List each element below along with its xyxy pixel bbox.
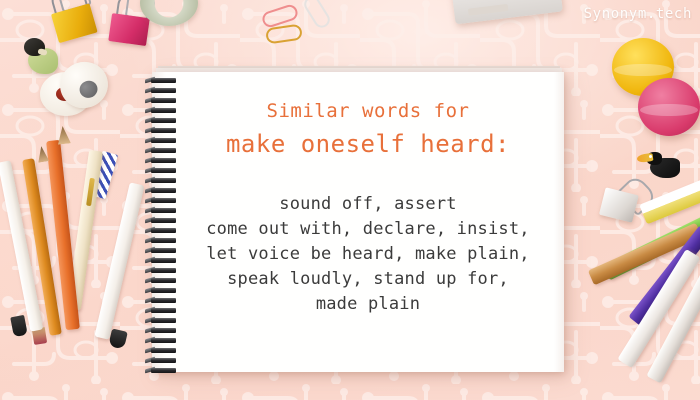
synonym-line: come out with, declare, insist,: [172, 217, 564, 242]
card-title-lead: Similar words for: [172, 100, 564, 122]
toucan-figurine: [638, 152, 684, 186]
bird-eraser-green: [22, 36, 62, 76]
synonym-line: speak loudly, stand up for,: [172, 267, 564, 292]
synonym-list: sound off, assert come out with, declare…: [172, 192, 564, 317]
synonym-line: let voice be heard, make plain,: [172, 242, 564, 267]
card-content: Similar words for make oneself heard: so…: [172, 72, 564, 372]
synonym-line: made plain: [172, 292, 564, 317]
macaron-pink: [638, 78, 700, 136]
card-title-word: make oneself heard:: [172, 130, 564, 158]
synonym-line: sound off, assert: [172, 192, 564, 217]
brand-logo: Synonym.tech: [584, 6, 692, 22]
synonym-card-scene: Synonym.tech: [0, 0, 700, 400]
